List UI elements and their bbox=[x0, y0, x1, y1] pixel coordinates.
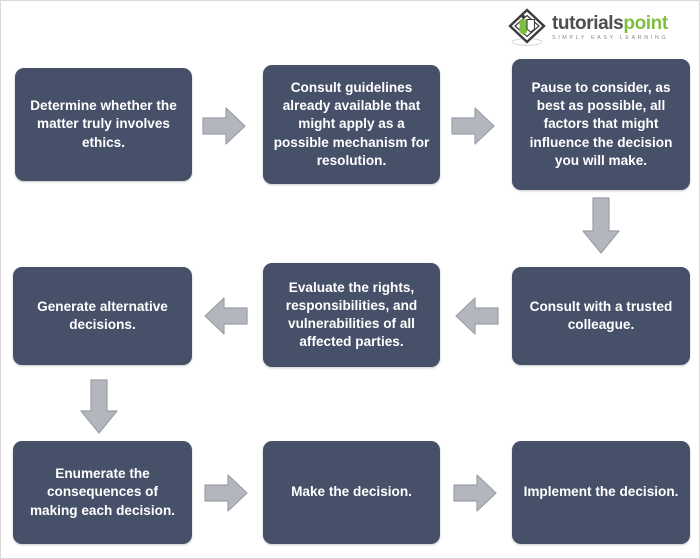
arrow-right-node2-node3 bbox=[451, 106, 495, 146]
flow-node-3[interactable]: Pause to consider, as best as possible, … bbox=[512, 59, 690, 190]
flow-node-5-label: Evaluate the rights, responsibilities, a… bbox=[273, 279, 430, 352]
tutorialspoint-logo: tutorialspoint SIMPLY EASY LEARNING bbox=[506, 5, 696, 51]
flow-node-4[interactable]: Consult with a trusted colleague. bbox=[512, 267, 690, 365]
arrow-down-node3-node4 bbox=[581, 197, 621, 255]
flowchart-canvas: tutorialspoint SIMPLY EASY LEARNING Dete… bbox=[0, 0, 700, 559]
flow-node-1[interactable]: Determine whether the matter truly invol… bbox=[15, 68, 192, 181]
logo-word-accent: point bbox=[623, 13, 667, 34]
flow-node-2-label: Consult guidelines already available tha… bbox=[273, 79, 430, 170]
logo-word-primary: tutorials bbox=[552, 13, 623, 34]
logo-wordmark: tutorialspoint SIMPLY EASY LEARNING bbox=[552, 14, 668, 41]
logo-tagline: SIMPLY EASY LEARNING bbox=[552, 36, 668, 41]
arrow-right-node7-node8 bbox=[204, 473, 248, 513]
flow-node-7-label: Enumerate the consequences of making eac… bbox=[23, 465, 182, 520]
flow-node-2[interactable]: Consult guidelines already available tha… bbox=[263, 65, 440, 184]
logo-diamond-icon bbox=[506, 7, 548, 49]
arrow-right-node1-node2 bbox=[202, 106, 246, 146]
flow-node-6-label: Generate alternative decisions. bbox=[23, 298, 182, 334]
flow-node-6[interactable]: Generate alternative decisions. bbox=[13, 267, 192, 365]
flow-node-7[interactable]: Enumerate the consequences of making eac… bbox=[13, 441, 192, 544]
flow-node-5[interactable]: Evaluate the rights, responsibilities, a… bbox=[263, 263, 440, 367]
flow-node-1-label: Determine whether the matter truly invol… bbox=[25, 97, 182, 152]
flow-node-4-label: Consult with a trusted colleague. bbox=[522, 298, 680, 334]
arrow-down-node6-node7 bbox=[79, 379, 119, 435]
flow-node-3-label: Pause to consider, as best as possible, … bbox=[522, 79, 680, 170]
arrow-left-node5-node6 bbox=[204, 296, 248, 336]
arrow-right-node8-node9 bbox=[453, 473, 497, 513]
flow-node-8-label: Make the decision. bbox=[291, 483, 412, 501]
arrow-left-node4-node5 bbox=[455, 296, 499, 336]
flow-node-8[interactable]: Make the decision. bbox=[263, 441, 440, 544]
flow-node-9-label: Implement the decision. bbox=[524, 483, 679, 501]
flow-node-9[interactable]: Implement the decision. bbox=[512, 441, 690, 544]
